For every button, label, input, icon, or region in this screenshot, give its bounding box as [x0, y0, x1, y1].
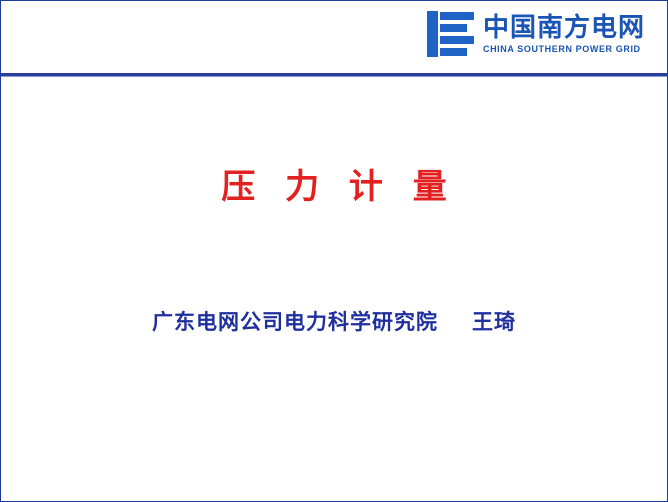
logo-bar-2 — [440, 24, 467, 32]
logo-bar-1 — [440, 12, 474, 20]
logo-bar-3 — [440, 36, 474, 44]
logo-bar-4 — [440, 48, 467, 56]
southern-power-grid-logo-icon — [427, 11, 474, 57]
logo-english-name: CHINA SOUTHERN POWER GRID — [483, 43, 645, 55]
logo-text-block: 中国南方电网 CHINA SOUTHERN POWER GRID — [483, 13, 645, 55]
slide-header: 中国南方电网 CHINA SOUTHERN POWER GRID — [1, 1, 667, 73]
logo-chinese-name: 中国南方电网 — [483, 13, 645, 43]
logo-vertical-bar — [427, 11, 438, 57]
slide-author-line: 广东电网公司电力科学研究院王琦 — [1, 306, 667, 336]
slide-title: 压 力 计 量 — [1, 159, 667, 208]
header-divider — [1, 73, 667, 76]
affiliation-text: 广东电网公司电力科学研究院 — [152, 309, 438, 334]
author-name: 王琦 — [472, 309, 516, 334]
presentation-slide: 中国南方电网 CHINA SOUTHERN POWER GRID 压 力 计 量… — [0, 0, 668, 502]
company-logo: 中国南方电网 CHINA SOUTHERN POWER GRID — [427, 11, 645, 57]
